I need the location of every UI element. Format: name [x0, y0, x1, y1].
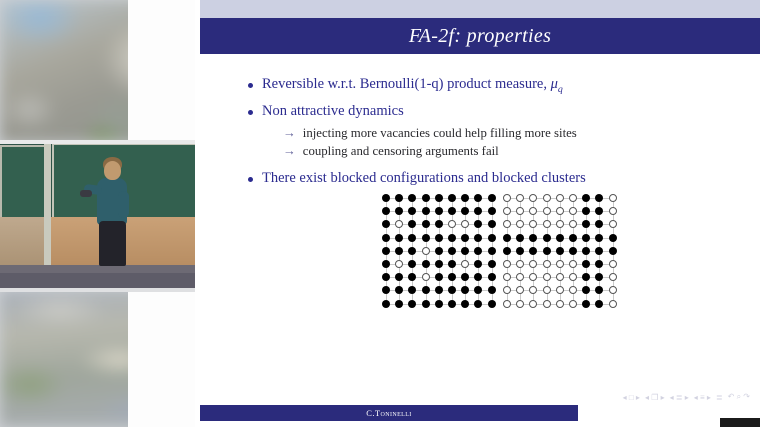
lattice-site-occupied: [382, 220, 390, 228]
lattice-site-occupied: [408, 286, 416, 294]
lattice-site-vacant: [529, 286, 537, 294]
sub-text-1: injecting more vacancies could help fill…: [303, 126, 577, 141]
lattice-site-occupied: [474, 286, 482, 294]
lattice-site-occupied: [461, 286, 469, 294]
sub-item-1: → injecting more vacancies could help fi…: [283, 126, 577, 141]
lattice-site-occupied: [595, 300, 603, 308]
lattice-site-occupied: [448, 260, 456, 268]
lattice-site-occupied: [595, 260, 603, 268]
beamer-nav-icon[interactable]: ≣: [716, 393, 723, 402]
lattice-site-occupied: [488, 300, 496, 308]
slide-title-bar: FA-2f: properties: [200, 18, 760, 54]
lattice-site-vacant: [516, 273, 524, 281]
lattice-site-vacant: [543, 273, 551, 281]
lattice-site-vacant: [609, 273, 617, 281]
lattice-site-occupied: [569, 247, 577, 255]
lattice-site-occupied: [488, 260, 496, 268]
lattice-site-occupied: [474, 220, 482, 228]
lattice-site-occupied: [582, 247, 590, 255]
lattice-site-vacant: [503, 220, 511, 228]
lattice-site-vacant: [609, 207, 617, 215]
lattice-site-occupied: [582, 220, 590, 228]
lattice-site-occupied: [382, 194, 390, 202]
lattice-site-vacant: [543, 220, 551, 228]
lattice-site-occupied: [582, 234, 590, 242]
lattice-site-occupied: [595, 234, 603, 242]
bullet-item-3: There exist blocked configurations and b…: [248, 170, 586, 187]
wood-wall-panel-left: [0, 217, 50, 265]
beamer-nav-icon[interactable]: ↶ ⌕ ↷: [728, 392, 750, 402]
lattice-site-vacant: [556, 194, 564, 202]
lattice-site-occupied: [422, 234, 430, 242]
lattice-site-vacant: [529, 260, 537, 268]
lattice-site-occupied: [543, 234, 551, 242]
lattice-site-occupied: [461, 194, 469, 202]
lattice-site-occupied: [595, 247, 603, 255]
lattice-site-occupied: [395, 273, 403, 281]
slide-content: Reversible w.r.t. Bernoulli(1-q) product…: [200, 54, 760, 399]
lattice-site-occupied: [408, 220, 416, 228]
lattice-site-occupied: [422, 220, 430, 228]
lattice-site-occupied: [474, 273, 482, 281]
lattice-site-vacant: [569, 220, 577, 228]
lattice-site-occupied: [395, 286, 403, 294]
lattice-site-occupied: [448, 300, 456, 308]
lattice-site-occupied: [474, 247, 482, 255]
lattice-site-occupied: [448, 234, 456, 242]
lattice-site-occupied: [422, 300, 430, 308]
lattice-site-occupied: [435, 234, 443, 242]
lattice-site-occupied: [408, 194, 416, 202]
lattice-site-occupied: [435, 286, 443, 294]
lattice-site-occupied: [408, 207, 416, 215]
lattice-site-occupied: [582, 194, 590, 202]
lattice-site-occupied: [448, 194, 456, 202]
lattice-site-vacant: [516, 220, 524, 228]
lattice-site-occupied: [408, 247, 416, 255]
lattice-site-occupied: [382, 286, 390, 294]
lattice-site-vacant: [503, 300, 511, 308]
lattice-site-occupied: [529, 247, 537, 255]
bullet-item-2: Non attractive dynamics: [248, 103, 404, 120]
bullet-dot-icon: [248, 110, 253, 115]
lattice-site-occupied: [435, 194, 443, 202]
lattice-site-occupied: [529, 234, 537, 242]
blocked-configuration-grid: [382, 194, 496, 308]
lattice-site-occupied: [422, 260, 430, 268]
corner-indicator: [720, 418, 760, 427]
lattice-site-vacant: [543, 286, 551, 294]
lattice-site-vacant: [609, 300, 617, 308]
lattice-site-occupied: [595, 207, 603, 215]
bullet-dot-icon: [248, 177, 253, 182]
mu-glyph: μ: [551, 76, 558, 92]
lattice-site-occupied: [595, 286, 603, 294]
lattice-site-vacant: [529, 220, 537, 228]
lattice-site-occupied: [543, 247, 551, 255]
lattice-site-occupied: [448, 273, 456, 281]
lattice-site-occupied: [461, 247, 469, 255]
lattice-site-vacant: [556, 260, 564, 268]
lattice-site-vacant: [569, 194, 577, 202]
bullet-item-1: Reversible w.r.t. Bernoulli(1-q) product…: [248, 76, 563, 95]
lattice-site-occupied: [461, 234, 469, 242]
arrow-right-icon: →: [283, 126, 296, 141]
lattice-site-vacant: [461, 220, 469, 228]
lattice-site-occupied: [382, 207, 390, 215]
bullet-text-3: There exist blocked configurations and b…: [262, 170, 586, 187]
screen: FA-2f: properties Reversible w.r.t. Bern…: [0, 0, 760, 427]
lattice-site-vacant: [516, 300, 524, 308]
lattice-site-occupied: [595, 194, 603, 202]
lattice-site-vacant: [503, 207, 511, 215]
lattice-site-occupied: [556, 247, 564, 255]
presentation-slide: FA-2f: properties Reversible w.r.t. Bern…: [195, 0, 760, 427]
sub-text-2: coupling and censoring arguments fail: [303, 144, 499, 159]
beamer-navigation-bar[interactable]: ◂ □ ▸◂ ❐ ▸◂ ≣ ▸◂ ≡ ▸≣↶ ⌕ ↷: [560, 390, 750, 404]
lattice-site-occupied: [488, 273, 496, 281]
lattice-site-occupied: [569, 234, 577, 242]
slide-top-band: [200, 0, 760, 18]
lattice-site-occupied: [448, 247, 456, 255]
chalkboard-left: [0, 145, 50, 221]
lattice-site-vacant: [556, 300, 564, 308]
camera-video-frame: [0, 143, 195, 290]
lattice-site-occupied: [435, 260, 443, 268]
lattice-site-vacant: [461, 260, 469, 268]
footer-author: C.Toninelli: [200, 405, 578, 421]
lattice-site-occupied: [582, 300, 590, 308]
lattice-site-vacant: [569, 286, 577, 294]
lattice-site-occupied: [474, 194, 482, 202]
lattice-site-occupied: [435, 273, 443, 281]
lattice-site-occupied: [408, 273, 416, 281]
lattice-site-vacant: [609, 220, 617, 228]
lattice-site-occupied: [488, 194, 496, 202]
lattice-site-occupied: [435, 300, 443, 308]
lattice-site-occupied: [474, 260, 482, 268]
lattice-site-vacant: [529, 273, 537, 281]
lattice-site-vacant: [529, 300, 537, 308]
lattice-site-occupied: [609, 247, 617, 255]
lattice-site-occupied: [582, 260, 590, 268]
lattice-site-vacant: [569, 273, 577, 281]
lattice-site-vacant: [503, 273, 511, 281]
lattice-site-occupied: [448, 207, 456, 215]
lattice-site-occupied: [395, 300, 403, 308]
lattice-site-occupied: [474, 234, 482, 242]
lattice-site-occupied: [503, 234, 511, 242]
lattice-site-vacant: [556, 286, 564, 294]
lattice-site-occupied: [582, 286, 590, 294]
lattice-site-occupied: [595, 220, 603, 228]
speaker-arm-back: [118, 191, 129, 218]
lattice-site-vacant: [543, 260, 551, 268]
lattice-site-occupied: [435, 207, 443, 215]
lattice-site-vacant: [516, 194, 524, 202]
lattice-site-occupied: [474, 300, 482, 308]
lattice-site-occupied: [488, 220, 496, 228]
arrow-right-icon: →: [283, 144, 296, 159]
lattice-site-occupied: [382, 260, 390, 268]
lattice-site-vacant: [422, 273, 430, 281]
speaker-hand-clicker: [80, 190, 92, 197]
lattice-site-occupied: [474, 207, 482, 215]
lattice-site-occupied: [582, 207, 590, 215]
lattice-site-occupied: [609, 234, 617, 242]
speaker-legs: [99, 221, 126, 266]
lattice-site-vacant: [529, 207, 537, 215]
bullet-text-2: Non attractive dynamics: [262, 103, 404, 120]
lattice-site-occupied: [435, 247, 443, 255]
lattice-site-vacant: [395, 260, 403, 268]
board-frame-divider: [44, 143, 51, 273]
lattice-site-vacant: [609, 260, 617, 268]
lattice-site-occupied: [422, 286, 430, 294]
lattice-site-vacant: [395, 220, 403, 228]
lattice-site-vacant: [556, 273, 564, 281]
lattice-site-occupied: [382, 273, 390, 281]
lattice-site-vacant: [543, 194, 551, 202]
lattice-site-vacant: [516, 207, 524, 215]
lattice-site-vacant: [529, 194, 537, 202]
lattice-site-occupied: [422, 207, 430, 215]
lattice-site-occupied: [382, 247, 390, 255]
lecture-camera-panel: [0, 0, 195, 427]
beamer-nav-icon[interactable]: ◂ ≣ ▸: [670, 393, 689, 402]
lattice-site-occupied: [503, 247, 511, 255]
lattice-site-occupied: [488, 286, 496, 294]
lattice-site-vacant: [422, 247, 430, 255]
camera-seam-top: [0, 140, 195, 144]
lattice-site-vacant: [503, 194, 511, 202]
lattice-site-occupied: [382, 234, 390, 242]
lattice-site-occupied: [395, 247, 403, 255]
lattice-site-vacant: [516, 260, 524, 268]
blur-white-strip-top: [128, 0, 195, 143]
lattice-site-occupied: [488, 234, 496, 242]
lattice-site-occupied: [516, 234, 524, 242]
lattice-site-vacant: [543, 300, 551, 308]
lattice-site-occupied: [395, 234, 403, 242]
sub-item-2: → coupling and censoring arguments fail: [283, 144, 499, 159]
camera-seam-bottom: [0, 288, 195, 292]
lattice-site-occupied: [408, 260, 416, 268]
slide-footer-bar: C.Toninelli: [200, 405, 578, 421]
lattice-site-occupied: [595, 273, 603, 281]
lattice-site-vacant: [569, 300, 577, 308]
lattice-site-occupied: [408, 300, 416, 308]
lattice-site-vacant: [556, 220, 564, 228]
slide-title: FA-2f: properties: [200, 18, 760, 54]
measure-symbol: μq: [547, 76, 563, 95]
lattice-site-occupied: [395, 194, 403, 202]
blocked-cluster-grid: [503, 194, 617, 308]
lattice-site-occupied: [448, 286, 456, 294]
bullet-dot-icon: [248, 83, 253, 88]
lattice-site-vacant: [609, 286, 617, 294]
beamer-nav-icon[interactable]: ◂ ≡ ▸: [694, 393, 711, 402]
lattice-site-occupied: [516, 247, 524, 255]
lattice-site-occupied: [395, 207, 403, 215]
bullet-text-1: Reversible w.r.t. Bernoulli(1-q) product…: [262, 76, 547, 93]
lattice-site-vacant: [503, 260, 511, 268]
blur-white-strip-bottom: [128, 290, 195, 427]
lattice-site-vacant: [556, 207, 564, 215]
lattice-site-occupied: [461, 300, 469, 308]
lattice-site-vacant: [503, 286, 511, 294]
lattice-site-occupied: [556, 234, 564, 242]
lattice-site-vacant: [448, 220, 456, 228]
speaker-head: [104, 161, 121, 180]
lattice-site-occupied: [382, 300, 390, 308]
lattice-site-vacant: [569, 260, 577, 268]
lattice-site-occupied: [422, 194, 430, 202]
lattice-site-occupied: [582, 273, 590, 281]
mu-subscript: q: [558, 84, 563, 95]
lattice-site-occupied: [461, 207, 469, 215]
beamer-nav-icon[interactable]: ◂ □ ▸: [623, 393, 640, 402]
lattice-site-vacant: [516, 286, 524, 294]
lattice-site-occupied: [435, 220, 443, 228]
lattice-site-vacant: [609, 194, 617, 202]
lattice-site-occupied: [461, 273, 469, 281]
lattice-site-occupied: [488, 247, 496, 255]
lattice-site-vacant: [569, 207, 577, 215]
lattice-site-vacant: [543, 207, 551, 215]
lattice-site-occupied: [408, 234, 416, 242]
beamer-nav-icon[interactable]: ◂ ❐ ▸: [645, 393, 665, 402]
lattice-site-occupied: [488, 207, 496, 215]
